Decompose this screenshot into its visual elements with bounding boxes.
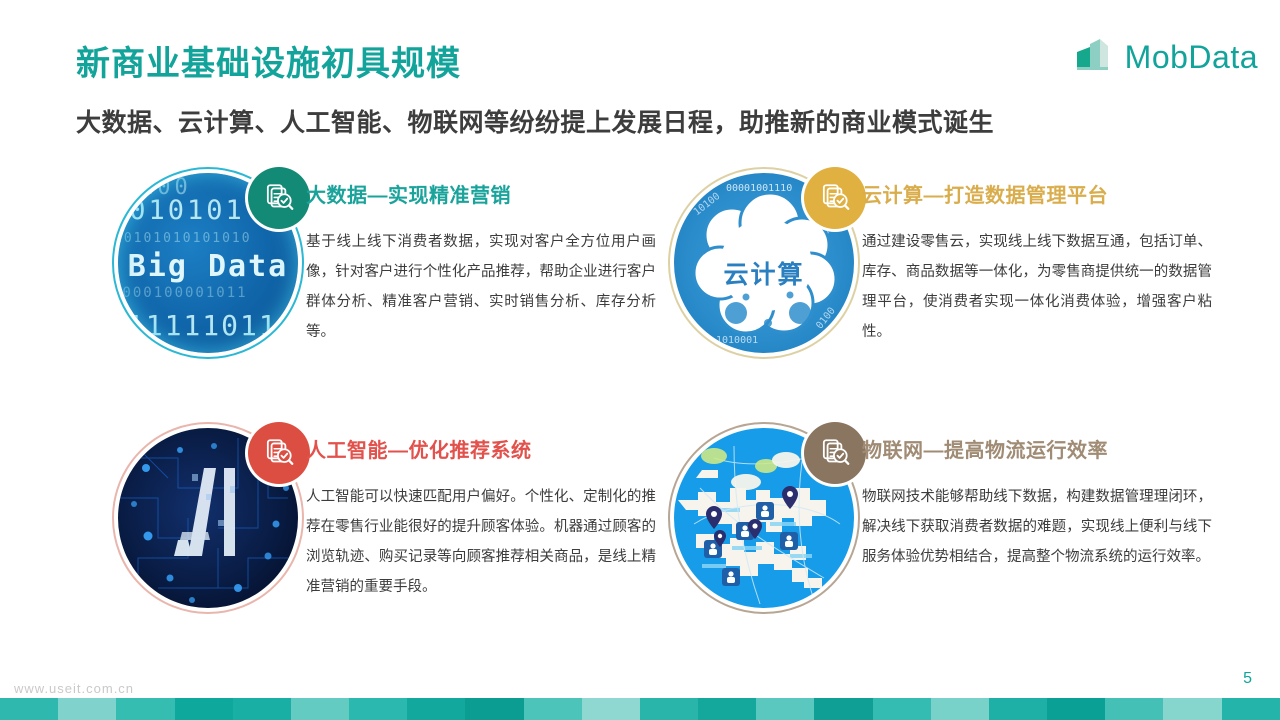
document-search-icon — [262, 436, 296, 470]
card-text-artificial-intelligence: 人工智能—优化推荐系统 人工智能可以快速匹配用户偏好。个性化、定制化的推荐在零售… — [306, 420, 656, 602]
page-subtitle: 大数据、云计算、人工智能、物联网等纷纷提上发展日程，助推新的商业模式诞生 — [76, 103, 994, 139]
footer-bar-segment — [698, 698, 756, 720]
footer-bar-segment — [640, 698, 698, 720]
footer-bar-segment — [1105, 698, 1163, 720]
card-text-cloud-computing: 云计算—打造数据管理平台 通过建设零售云，实现线上线下数据互通，包括订单、库存、… — [862, 165, 1212, 347]
footer-bar-segment — [175, 698, 233, 720]
card-body-internet-of-things: 物联网技术能够帮助线下数据，构建数据管理理闭环，解决线下获取消费者数据的难题，实… — [862, 482, 1212, 572]
footer-bar-segment — [814, 698, 872, 720]
card-heading-cloud-computing: 云计算—打造数据管理平台 — [862, 179, 1212, 208]
slide: 新商业基础设施初具规模 大数据、云计算、人工智能、物联网等纷纷提上发展日程，助推… — [0, 0, 1280, 720]
card-body-artificial-intelligence: 人工智能可以快速匹配用户偏好。个性化、定制化的推荐在零售行业能很好的提升顾客体验… — [306, 482, 656, 602]
footer-bar-segment — [582, 698, 640, 720]
footer-bar-segment — [0, 698, 58, 720]
footer-bar-segment — [524, 698, 582, 720]
card-image-wrap-ai — [110, 420, 306, 616]
badge-cloud-computing — [804, 167, 866, 229]
card-image-wrap-big-data: 100 0010101 10101010101010 0000100001011… — [110, 165, 306, 361]
footer-bar-segment — [989, 698, 1047, 720]
footer-bar-segment — [931, 698, 989, 720]
document-search-icon — [818, 436, 852, 470]
badge-big-data — [248, 167, 310, 229]
footer-bar-segment — [233, 698, 291, 720]
card-text-big-data: 大数据—实现精准营销 基于线上线下消费者数据，实现对客户全方位用户画像，针对客户… — [306, 165, 656, 347]
footer-bar-segment — [58, 698, 116, 720]
footer-bar-segment — [873, 698, 931, 720]
card-heading-big-data: 大数据—实现精准营销 — [306, 179, 656, 208]
card-heading-internet-of-things: 物联网—提高物流运行效率 — [862, 434, 1212, 463]
footer-bar-segment — [1047, 698, 1105, 720]
footer-bar-segment — [116, 698, 174, 720]
footer-bar-segment — [1163, 698, 1221, 720]
card-heading-artificial-intelligence: 人工智能—优化推荐系统 — [306, 434, 656, 463]
logo-wordmark: MobData — [1125, 41, 1258, 73]
card-body-cloud-computing: 通过建设零售云，实现线上线下数据互通，包括订单、库存、商品数据等一体化，为零售商… — [862, 227, 1212, 347]
badge-artificial-intelligence — [248, 422, 310, 484]
card-body-big-data: 基于线上线下消费者数据，实现对客户全方位用户画像，针对客户进行个性化产品推荐，帮… — [306, 227, 656, 347]
document-search-icon — [818, 181, 852, 215]
footer-bar-segment — [1222, 698, 1280, 720]
footer-bar-segment — [291, 698, 349, 720]
footer-color-bar — [0, 698, 1280, 720]
card-image-wrap-cloud: 00001001110 10100 0101 1010001 0100 — [666, 165, 862, 361]
mobdata-building-icon — [1074, 38, 1116, 76]
card-image-wrap-iot — [666, 420, 862, 616]
footer-bar-segment — [407, 698, 465, 720]
footer-bar-segment — [465, 698, 523, 720]
cloud-image-label: 云计算 — [674, 255, 854, 291]
brand-logo: MobData — [1074, 38, 1258, 76]
watermark: www.useit.com.cn — [14, 681, 134, 696]
document-search-icon — [262, 181, 296, 215]
footer-bar-segment — [756, 698, 814, 720]
page-number: 5 — [1243, 670, 1252, 688]
badge-internet-of-things — [804, 422, 866, 484]
card-text-internet-of-things: 物联网—提高物流运行效率 物联网技术能够帮助线下数据，构建数据管理理闭环，解决线… — [862, 420, 1212, 572]
page-title: 新商业基础设施初具规模 — [76, 36, 461, 85]
footer-bar-segment — [349, 698, 407, 720]
